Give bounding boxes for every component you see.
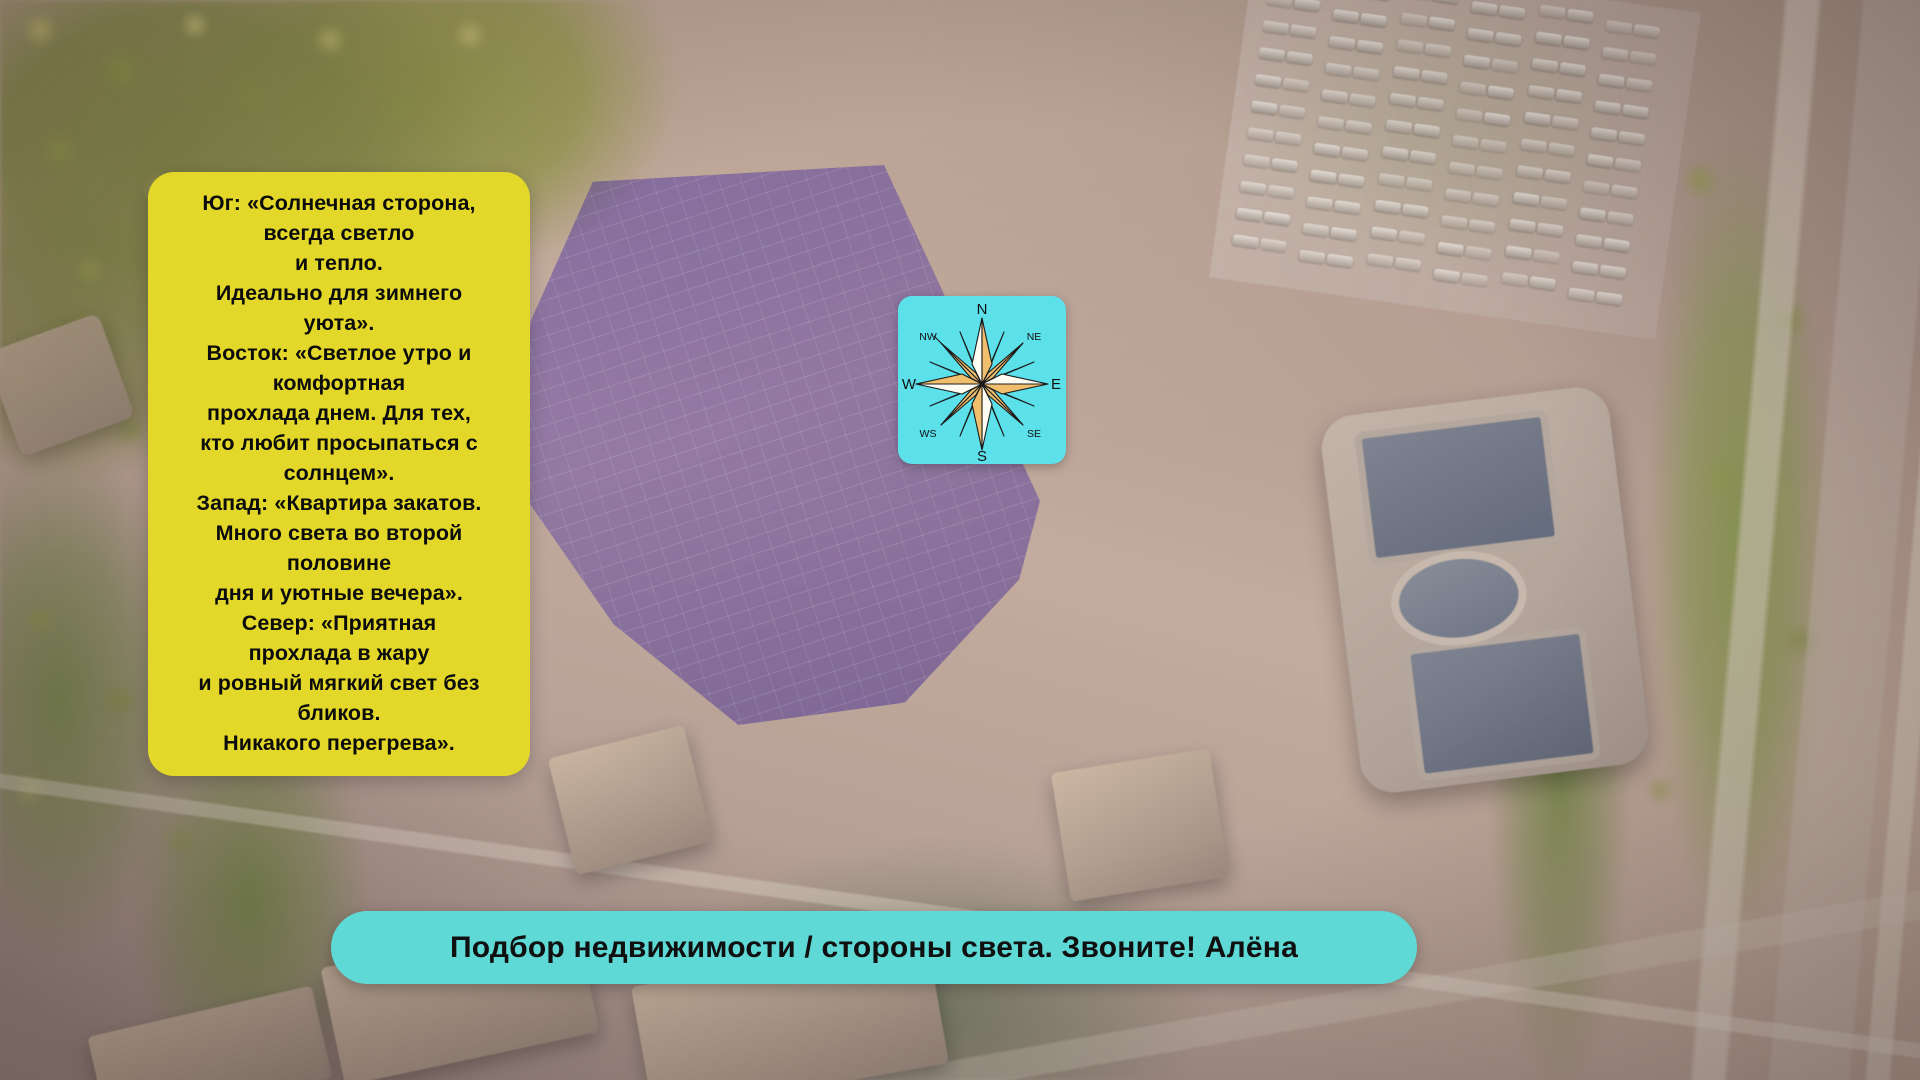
callout-line: прохлада днем. Для тех, <box>162 398 516 428</box>
compass-label-south: S <box>977 448 987 464</box>
callout-line: Юг: «Солнечная сторона, <box>162 188 516 218</box>
callout-line: Запад: «Квартира закатов. <box>162 488 516 518</box>
compass-label-north: N <box>977 301 988 318</box>
callout-line: Много света во второй <box>162 518 516 548</box>
callout-line: дня и уютные вечера». <box>162 578 516 608</box>
callout-line: комфортная <box>162 368 516 398</box>
callout-line: бликов. <box>162 698 516 728</box>
poster-canvas: Юг: «Солнечная сторона, всегда светло и … <box>0 0 1920 1080</box>
compass-label-west: W <box>902 376 917 393</box>
callout-line: Восток: «Светлое утро и <box>162 338 516 368</box>
callout-line: половине <box>162 548 516 578</box>
compass-rose: N E S W NW NE WS SE <box>898 296 1066 464</box>
callout-line: солнцем». <box>162 458 516 488</box>
compass-label-southwest: WS <box>920 428 937 440</box>
contact-banner[interactable]: Подбор недвижимости / стороны света. Зво… <box>331 911 1417 984</box>
compass-label-northwest: NW <box>919 331 937 343</box>
callout-line: Никакого перегрева». <box>162 728 516 758</box>
callout-line: всегда светло <box>162 218 516 248</box>
orientation-advice-callout: Юг: «Солнечная сторона, всегда светло и … <box>148 172 530 776</box>
callout-line: прохлада в жару <box>162 638 516 668</box>
callout-line: кто любит просыпаться с <box>162 428 516 458</box>
contact-banner-text: Подбор недвижимости / стороны света. Зво… <box>450 931 1298 965</box>
callout-line: и тепло. <box>162 248 516 278</box>
compass-label-northeast: NE <box>1027 331 1042 343</box>
compass-label-east: E <box>1051 376 1061 393</box>
callout-line: Идеально для зимнего <box>162 278 516 308</box>
callout-line: уюта». <box>162 308 516 338</box>
compass-rose-graphic: N E S W NW NE WS SE <box>898 296 1066 464</box>
compass-label-southeast: SE <box>1027 428 1041 440</box>
callout-line: Север: «Приятная <box>162 608 516 638</box>
callout-line: и ровный мягкий свет без <box>162 668 516 698</box>
